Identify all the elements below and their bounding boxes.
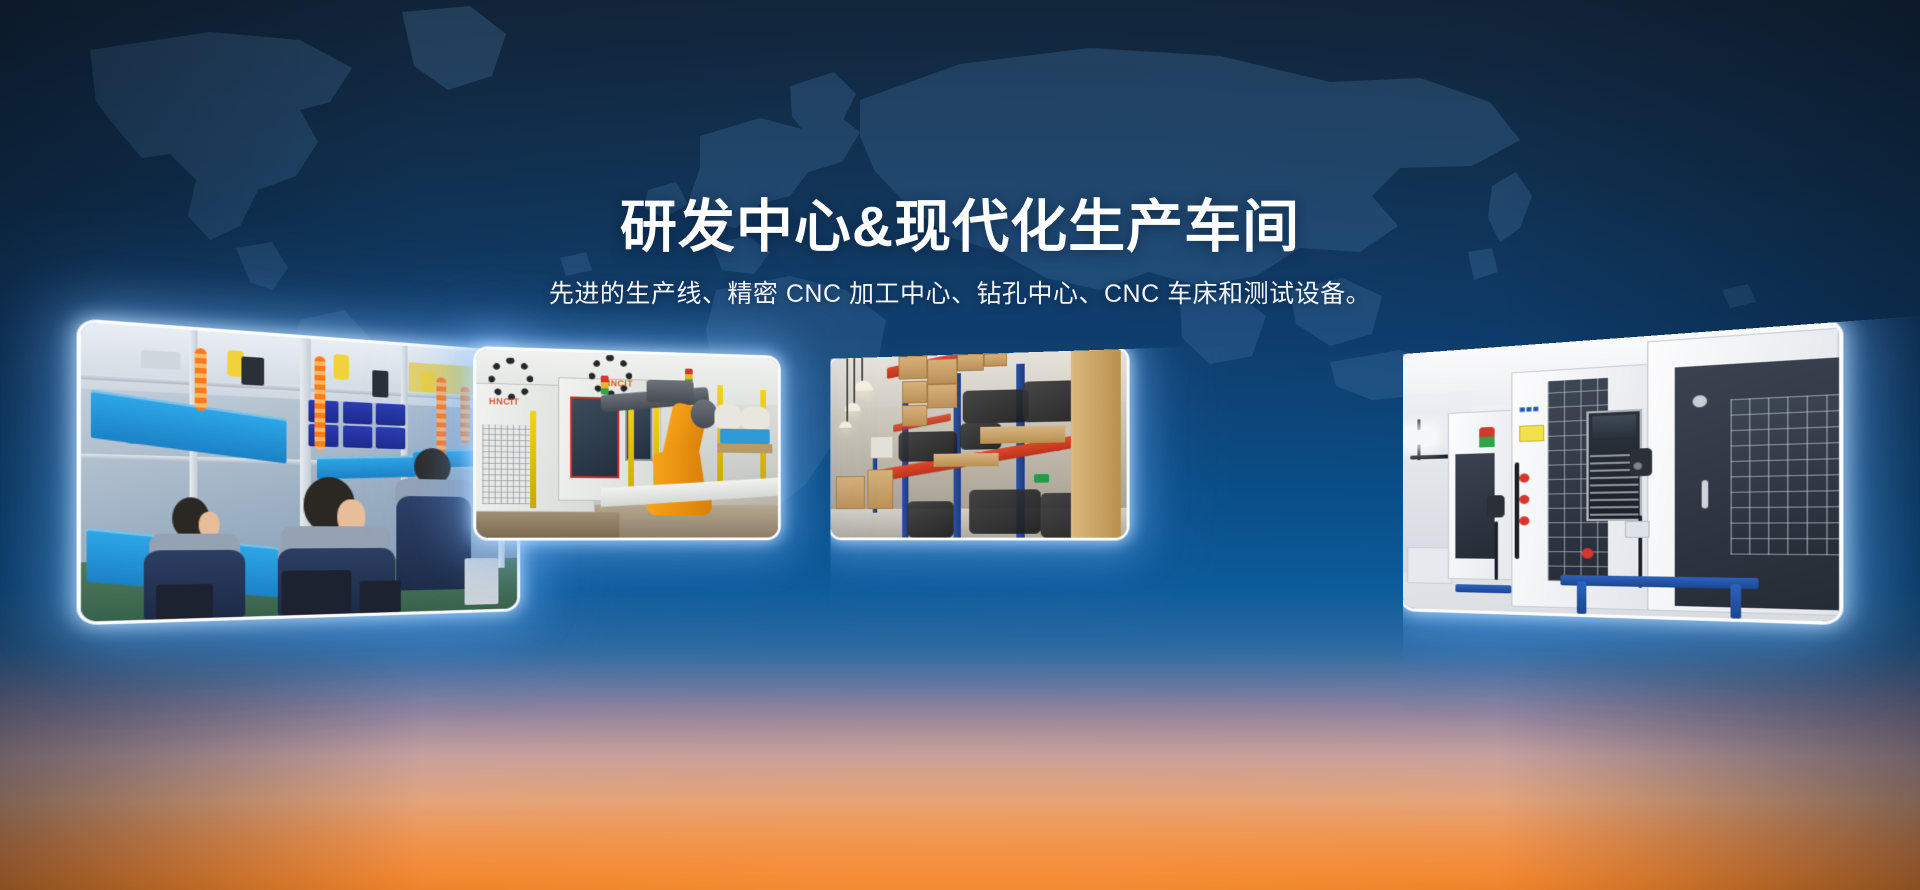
cnc-enclosures-photo: ■■■ [1403, 322, 1839, 622]
gallery-card-assembly-line[interactable] [81, 322, 517, 622]
machine-brand-label-right: HNCIT [604, 379, 633, 389]
machine-logo: ■■■ [1519, 403, 1539, 414]
page-title: 研发中心&现代化生产车间 [0, 196, 1920, 260]
page-subtitle: 先进的生产线、精密 CNC 加工中心、钻孔中心、CNC 车床和测试设备。 [0, 278, 1920, 311]
banner-headings: 研发中心&现代化生产车间 先进的生产线、精密 CNC 加工中心、钻孔中心、CNC… [0, 196, 1920, 310]
gallery-card-warehouse[interactable] [831, 349, 1127, 538]
gallery-card-cnc-robot[interactable]: HNCIT HNCIT [476, 349, 778, 538]
assembly-line-photo [81, 322, 517, 622]
warehouse-photo [831, 349, 1127, 538]
image-gallery: HNCIT HNCIT [0, 340, 1920, 760]
hero-banner: 研发中心&现代化生产车间 先进的生产线、精密 CNC 加工中心、钻孔中心、CNC… [0, 0, 1920, 890]
cnc-robot-photo: HNCIT HNCIT [476, 349, 778, 538]
machine-brand-label-left: HNCIT [489, 396, 519, 406]
gallery-card-cnc-enclosures[interactable]: ■■■ [1403, 322, 1839, 622]
